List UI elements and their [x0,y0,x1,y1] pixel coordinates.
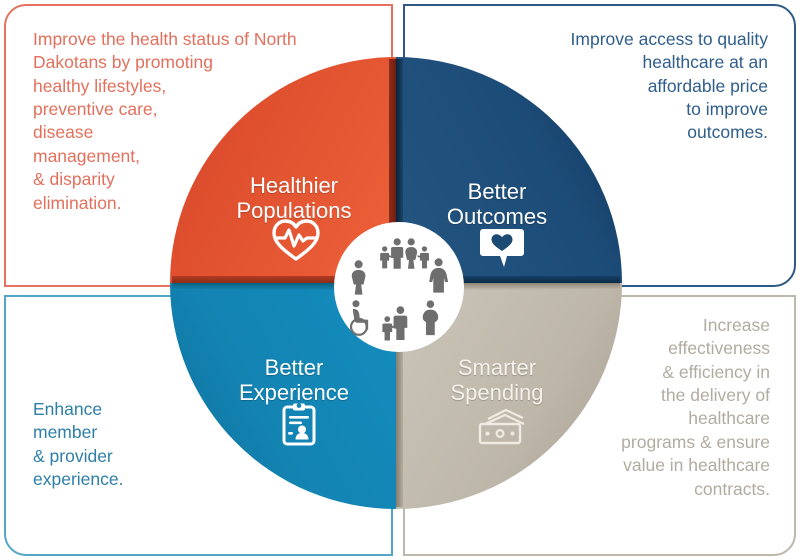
blurb-healthier-populations: Improve the health status of North Dakot… [33,28,363,215]
people-ring-hub [334,222,464,352]
blurb-smarter-spending: Increase effectiveness & efficiency in t… [460,314,770,501]
blurb-better-experience: Enhance member & provider experience. [33,398,333,491]
people-ring-icon [334,222,464,352]
blurb-better-outcomes: Improve access to quality healthcare at … [468,28,768,145]
quadruple-aim-diagram: Improve the health status of North Dakot… [0,0,800,560]
